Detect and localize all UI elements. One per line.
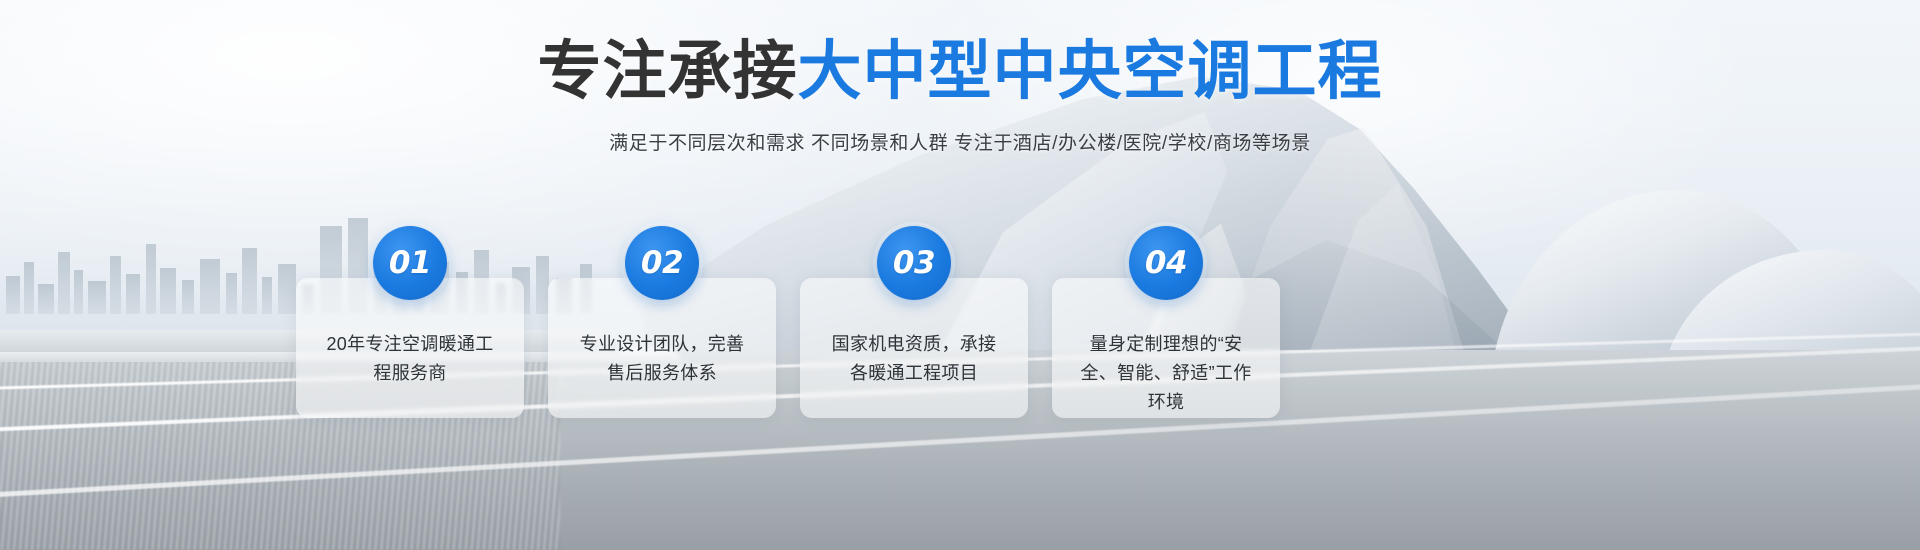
feature-card-02[interactable]: 02 专业设计团队，完善售后服务体系 [548, 278, 776, 418]
badge-circle-02: 02 [625, 226, 699, 300]
feature-card-text: 国家机电资质，承接各暖通工程项目 [826, 330, 1002, 388]
feature-card-03[interactable]: 03 国家机电资质，承接各暖通工程项目 [800, 278, 1028, 418]
feature-card-text: 专业设计团队，完善售后服务体系 [574, 330, 750, 388]
feature-card-01[interactable]: 01 20年专注空调暖通工程服务商 [296, 278, 524, 418]
feature-card-text: 量身定制理想的“安全、智能、舒适”工作环境 [1078, 330, 1254, 417]
feature-card-text: 20年专注空调暖通工程服务商 [322, 330, 498, 388]
headline-dark-text: 专注承接 [538, 35, 798, 107]
badge-number: 03 [893, 245, 935, 281]
page-subtitle: 满足于不同层次和需求 不同场景和人群 专注于酒店/办公楼/医院/学校/商场等场景 [0, 128, 1920, 155]
badge-number: 02 [641, 245, 683, 281]
page-title: 专注承接大中型中央空调工程 [0, 38, 1920, 106]
hvac-hero-banner: 专注承接大中型中央空调工程 满足于不同层次和需求 不同场景和人群 专注于酒店/办… [0, 0, 1920, 550]
badge-circle-01: 01 [373, 226, 447, 300]
badge-circle-03: 03 [877, 226, 951, 300]
badge-number: 04 [1145, 245, 1187, 281]
badge-number: 01 [389, 245, 431, 281]
headline-accent-text: 大中型中央空调工程 [798, 35, 1383, 107]
feature-card-list: 01 20年专注空调暖通工程服务商 02 专业设计团队，完善售后服务体系 03 … [296, 278, 1280, 418]
feature-card-04[interactable]: 04 量身定制理想的“安全、智能、舒适”工作环境 [1052, 278, 1280, 418]
badge-circle-04: 04 [1129, 226, 1203, 300]
